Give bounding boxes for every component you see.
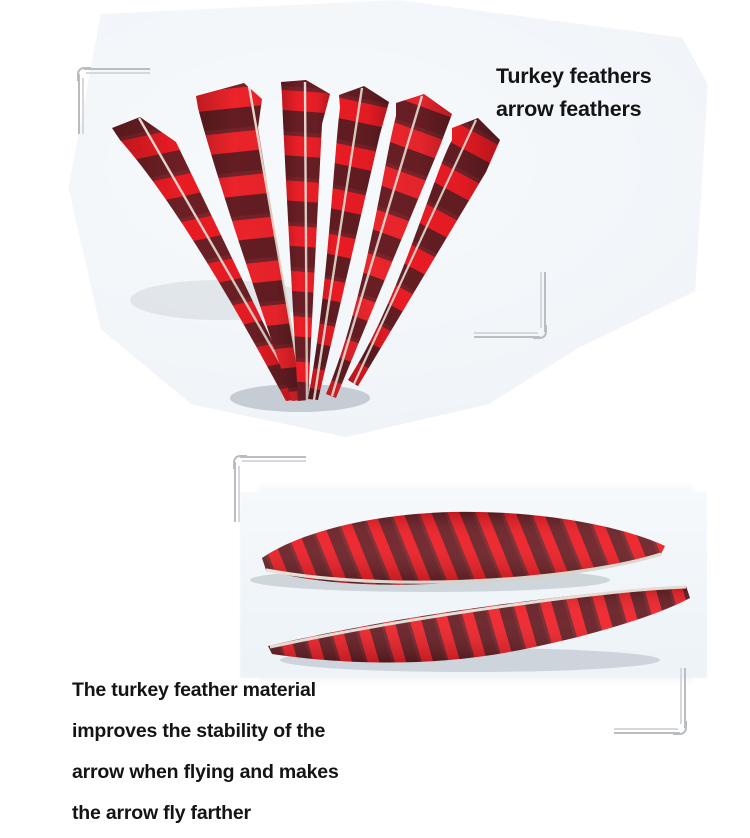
headline-line-1: Turkey feathers: [496, 60, 726, 93]
corner-bracket-mid-left: [228, 450, 306, 522]
caption-line-3: arrow when flying and makes: [72, 752, 412, 793]
corner-bracket-top-left: [72, 62, 150, 134]
corner-bracket-bottom-right: [614, 668, 692, 740]
product-image-stage: Turkey feathers arrow feathers The turke…: [0, 0, 750, 838]
corner-bracket-mid-right: [474, 272, 552, 344]
headline-line-2: arrow feathers: [496, 93, 726, 126]
caption-line-1: The turkey feather material: [72, 670, 412, 711]
headline: Turkey feathers arrow feathers: [496, 60, 726, 126]
photo-panel-bottom: [240, 492, 707, 678]
caption: The turkey feather material improves the…: [72, 670, 412, 834]
caption-line-2: improves the stability of the: [72, 711, 412, 752]
caption-line-4: the arrow fly farther: [72, 793, 412, 834]
